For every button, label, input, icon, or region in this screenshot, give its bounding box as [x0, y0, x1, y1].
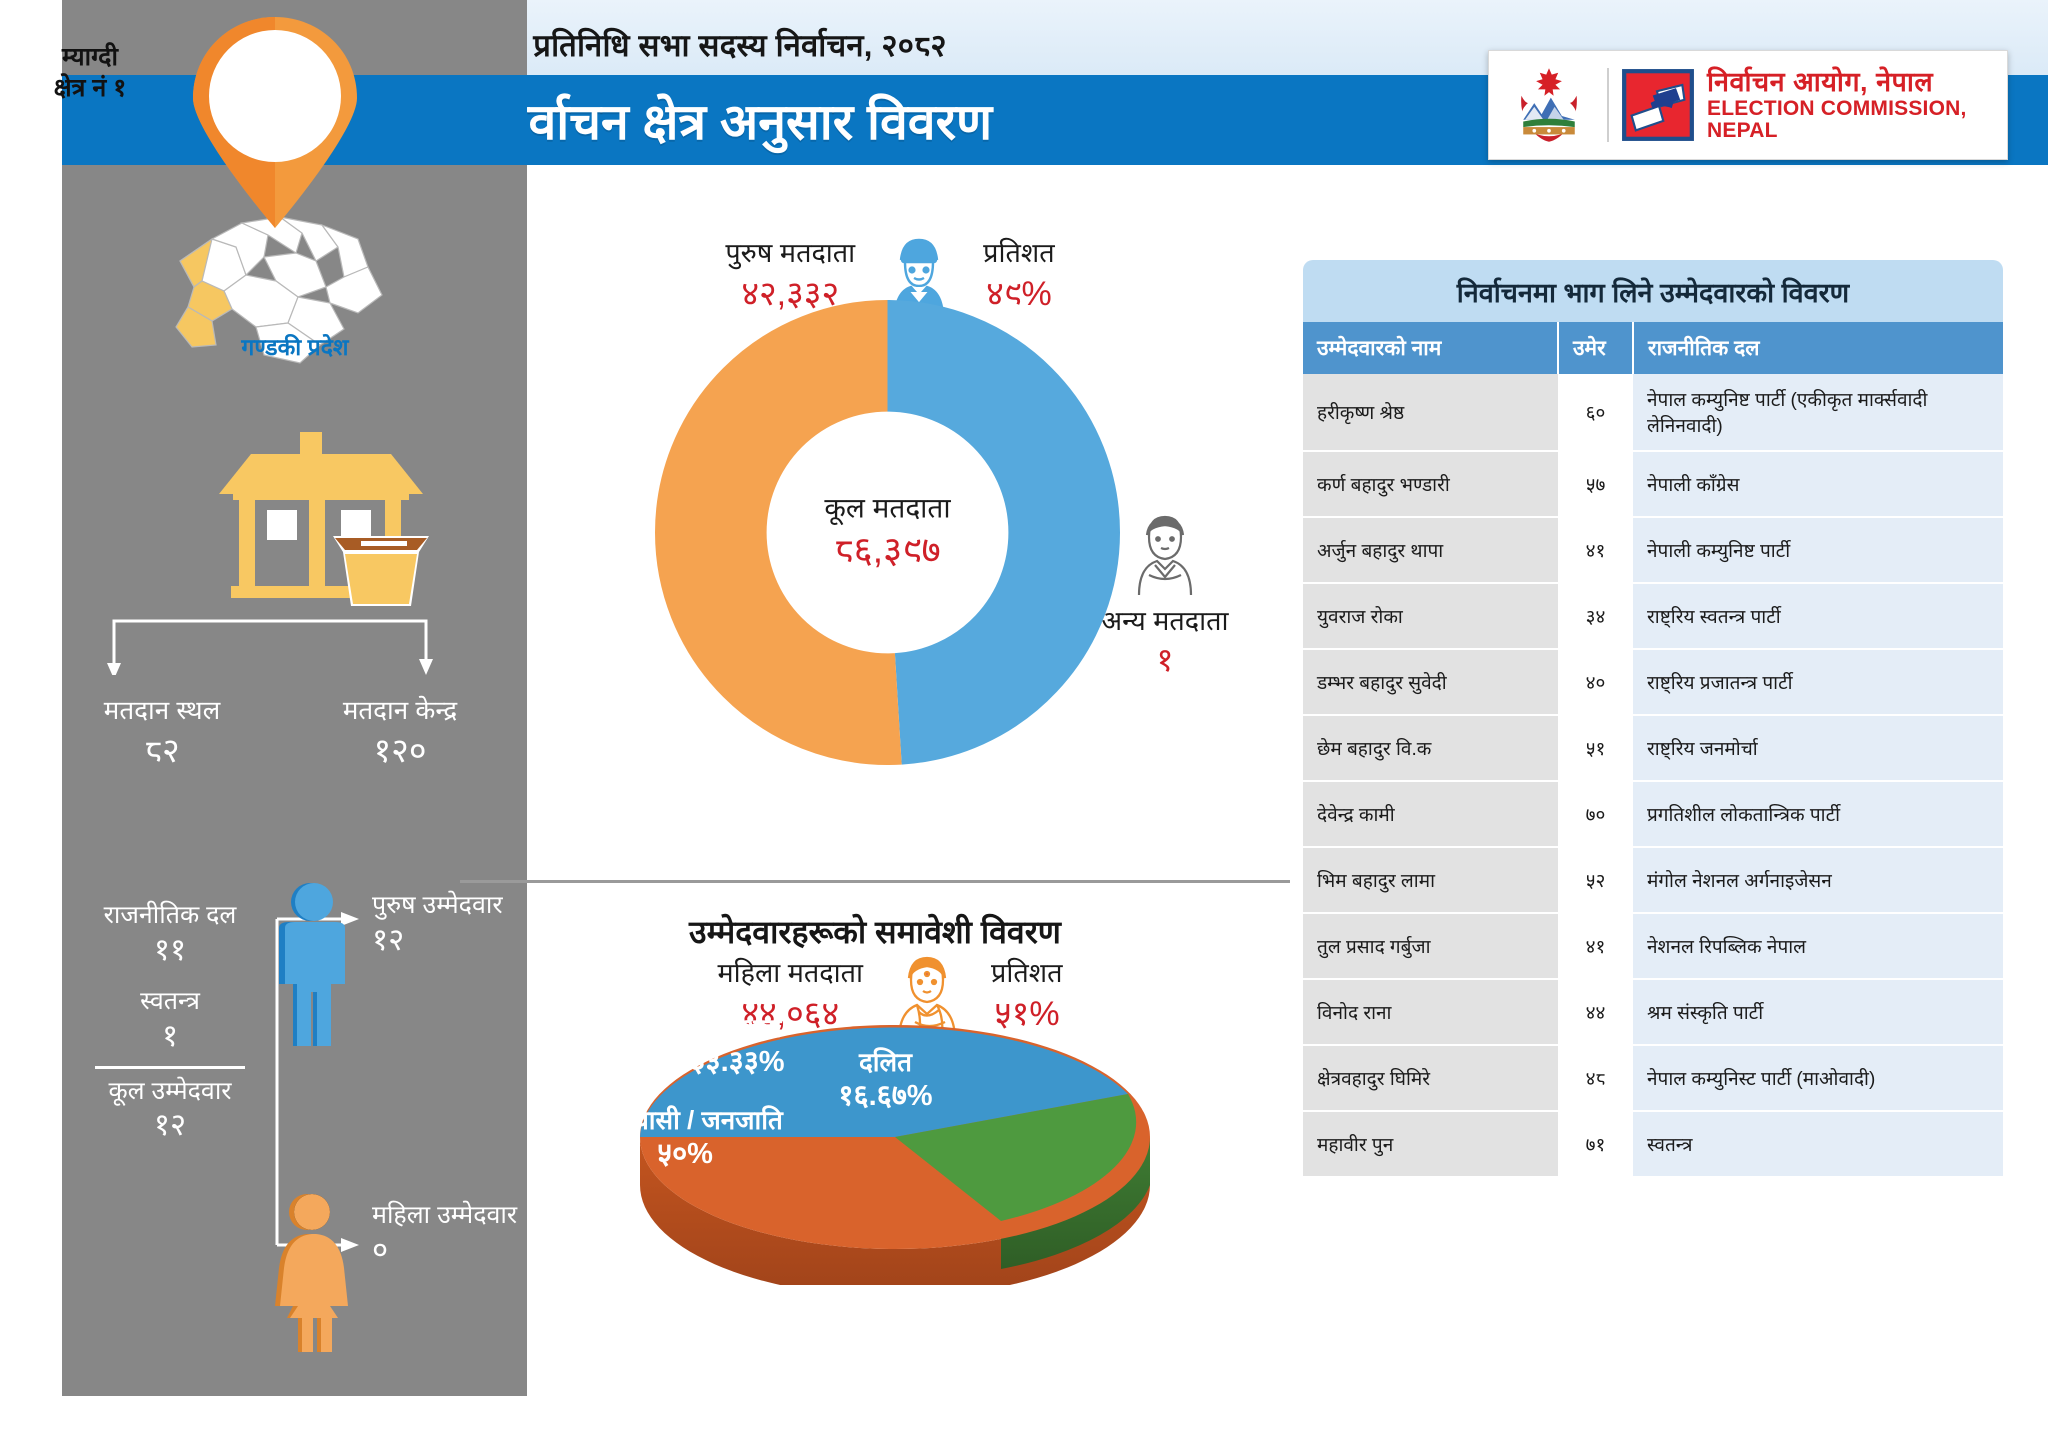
polling-center-value: १२० — [285, 730, 515, 773]
cell-candidate-age: ७१ — [1558, 1111, 1633, 1177]
table-body: हरीकृष्ण श्रेष्ठ६०नेपाल कम्युनिष्ट पार्ट… — [1303, 374, 2003, 1177]
male-candidate-icon — [265, 880, 360, 1050]
cell-candidate-age: ४१ — [1558, 517, 1633, 583]
table-header-row: उम्मेदवारको नाम उमेर राजनीतिक दल — [1303, 322, 2003, 374]
polling-center-block: मतदान केन्द्र १२० — [285, 695, 515, 773]
cell-candidate-party: स्वतन्त्र — [1633, 1111, 2003, 1177]
cell-candidate-party: नेपाल कम्युनिष्ट पार्टी (एकीकृत मार्क्सव… — [1633, 374, 2003, 451]
polling-place-label: मतदान स्थल — [62, 695, 262, 726]
table-row: विनोद राना४४श्रम संस्कृति पार्टी — [1303, 979, 2003, 1045]
cell-candidate-name: युवराज रोका — [1303, 583, 1558, 649]
table-row: महावीर पुन७१स्वतन्त्र — [1303, 1111, 2003, 1177]
total-voter-value: ८६,३९७ — [780, 528, 995, 574]
province-label: गण्डकी प्रदेश — [170, 330, 420, 362]
other-voter-block: अन्य मतदाता १ — [1070, 505, 1260, 681]
voter-gender-donut-chart: कूल मतदाता ८६,३९७ — [655, 300, 1120, 765]
other-voter-value: १ — [1070, 639, 1260, 680]
cell-candidate-party: नेपाली कम्युनिष्ट पार्टी — [1633, 517, 2003, 583]
other-voter-label: अन्य मतदाता — [1070, 605, 1260, 637]
logo-text-english: ELECTION COMMISSION, NEPAL — [1707, 98, 1993, 142]
cell-candidate-name: क्षेत्रवहादुर घिमिरे — [1303, 1045, 1558, 1111]
cell-candidate-age: ६० — [1558, 374, 1633, 451]
cell-candidate-party: नेशनल रिपब्लिक नेपाल — [1633, 913, 2003, 979]
cell-candidate-name: महावीर पुन — [1303, 1111, 1558, 1177]
column-header-name: उम्मेदवारको नाम — [1303, 322, 1558, 374]
table-row: छेम बहादुर वि.क५१राष्ट्रिय जनमोर्चा — [1303, 715, 2003, 781]
pin-label: म्याग्दी क्षेत्र नं १ — [0, 42, 180, 105]
pie-label-adivasi: आदिवासी / जनजाति ५०% — [545, 1105, 825, 1172]
nepal-emblem-icon — [1503, 59, 1595, 151]
cell-candidate-name: छेम बहादुर वि.क — [1303, 715, 1558, 781]
section-divider — [460, 880, 1290, 883]
male-voter-label: पुरुष मतदाता — [725, 237, 855, 269]
polling-place-block: मतदान स्थल ८२ — [62, 695, 262, 773]
candidate-table-title: निर्वाचनमा भाग लिने उम्मेदवारको विवरण — [1303, 260, 2003, 322]
cell-candidate-name: तुल प्रसाद गर्बुजा — [1303, 913, 1558, 979]
independent-value: १ — [70, 1017, 270, 1055]
political-party-label: राजनीतिक दल — [70, 900, 270, 931]
male-percent-label: प्रतिशत — [983, 237, 1055, 269]
cell-candidate-age: ४१ — [1558, 913, 1633, 979]
pin-constituency-number: क्षेत्र नं १ — [54, 74, 127, 102]
column-header-age: उमेर — [1558, 322, 1633, 374]
table-row: डम्भर बहादुर सुवेदी४०राष्ट्रिय प्रजातन्त… — [1303, 649, 2003, 715]
cell-candidate-age: ४० — [1558, 649, 1633, 715]
cell-candidate-name: डम्भर बहादुर सुवेदी — [1303, 649, 1558, 715]
cell-candidate-party: प्रगतिशील लोकतान्त्रिक पार्टी — [1633, 781, 2003, 847]
logo-text-nepali: निर्वाचन आयोग, नेपाल — [1707, 68, 1993, 96]
cell-candidate-age: ५७ — [1558, 451, 1633, 517]
pie-chart-title: उम्मेदवारहरूको समावेशी विवरण — [480, 910, 1270, 953]
pie-label-dalit-text: दलित — [793, 1047, 978, 1079]
polling-place-value: ८२ — [62, 730, 262, 773]
table-row: अर्जुन बहादुर थापा४१नेपाली कम्युनिष्ट पा… — [1303, 517, 2003, 583]
cell-candidate-age: ४४ — [1558, 979, 1633, 1045]
cell-candidate-party: राष्ट्रिय स्वतन्त्र पार्टी — [1633, 583, 2003, 649]
cell-candidate-party: राष्ट्रिय जनमोर्चा — [1633, 715, 2003, 781]
map-pin-marker — [185, 14, 365, 229]
election-commission-logo: निर्वाचन आयोग, नेपाल ELECTION COMMISSION… — [1488, 50, 2008, 160]
table-row: देवेन्द्र कामी७०प्रगतिशील लोकतान्त्रिक प… — [1303, 781, 2003, 847]
cell-candidate-age: ३४ — [1558, 583, 1633, 649]
cell-candidate-party: मंगोल नेशनल अर्गनाइजेसन — [1633, 847, 2003, 913]
table-row: कर्ण बहादुर भण्डारी५७नेपाली काँग्रेस — [1303, 451, 2003, 517]
table-row: भिम बहादुर लामा५२मंगोल नेशनल अर्गनाइजेसन — [1303, 847, 2003, 913]
pie-label-khas-text: खस आर्य — [630, 1013, 845, 1045]
center-panel: पुरुष मतदाता ४२,३३२ प्रतिशत ४९% — [540, 175, 1250, 1445]
cell-candidate-name: देवेन्द्र कामी — [1303, 781, 1558, 847]
female-candidate-icon — [265, 1190, 360, 1355]
total-voter-label: कूल मतदाता — [780, 491, 995, 525]
female-candidate-label: महिला उम्मेदवार — [372, 1200, 532, 1231]
table-row: हरीकृष्ण श्रेष्ठ६०नेपाल कम्युनिष्ट पार्ट… — [1303, 374, 2003, 451]
logo-divider — [1607, 68, 1609, 142]
cell-candidate-age: ४८ — [1558, 1045, 1633, 1111]
candidate-table-panel: निर्वाचनमा भाग लिने उम्मेदवारको विवरण उम… — [1303, 260, 2003, 1392]
cell-candidate-age: ७० — [1558, 781, 1633, 847]
pie-label-adivasi-text: आदिवासी / जनजाति — [545, 1105, 825, 1137]
table-row: क्षेत्रवहादुर घिमिरे४८नेपाल कम्युनिस्ट प… — [1303, 1045, 2003, 1111]
political-party-value: ११ — [70, 931, 270, 969]
cell-candidate-party: नेपाली काँग्रेस — [1633, 451, 2003, 517]
summary-divider — [95, 1066, 245, 1069]
candidate-summary-left: राजनीतिक दल ११ स्वतन्त्र १ कूल उम्मेदवार… — [70, 900, 270, 1144]
polling-station-house-icon — [205, 428, 435, 613]
female-candidate-block: महिला उम्मेदवार ० — [372, 1200, 532, 1270]
cell-candidate-party: नेपाल कम्युनिस्ट पार्टी (माओवादी) — [1633, 1045, 2003, 1111]
ballot-box-icon — [1621, 68, 1695, 142]
pin-district-name: म्याग्दी — [62, 43, 118, 71]
location-pin-icon — [185, 14, 365, 229]
cell-candidate-age: ५२ — [1558, 847, 1633, 913]
pie-label-adivasi-value: ५०% — [545, 1137, 825, 1172]
cell-candidate-name: कर्ण बहादुर भण्डारी — [1303, 451, 1558, 517]
cell-candidate-name: भिम बहादुर लामा — [1303, 847, 1558, 913]
polling-connector-lines — [100, 605, 440, 675]
logo-text: निर्वाचन आयोग, नेपाल ELECTION COMMISSION… — [1707, 68, 1993, 142]
table-row: तुल प्रसाद गर्बुजा४१नेशनल रिपब्लिक नेपाल — [1303, 913, 2003, 979]
left-white-margin — [0, 0, 62, 1448]
polling-center-label: मतदान केन्द्र — [285, 695, 515, 726]
cell-candidate-party: श्रम संस्कृति पार्टी — [1633, 979, 2003, 1045]
table-row: युवराज रोका३४राष्ट्रिय स्वतन्त्र पार्टी — [1303, 583, 2003, 649]
cell-candidate-name: विनोद राना — [1303, 979, 1558, 1045]
total-candidates-value: १२ — [70, 1106, 270, 1144]
cell-candidate-party: राष्ट्रिय प्रजातन्त्र पार्टी — [1633, 649, 2003, 715]
total-candidates-label: कूल उम्मेदवार — [70, 1076, 270, 1107]
cell-candidate-name: अर्जुन बहादुर थापा — [1303, 517, 1558, 583]
infographic-page: प्रतिनिधि सभा सदस्य निर्वाचन, २०८२ निर्व… — [0, 0, 2048, 1448]
cell-candidate-name: हरीकृष्ण श्रेष्ठ — [1303, 374, 1558, 451]
column-header-party: राजनीतिक दल — [1633, 322, 2003, 374]
cell-candidate-age: ५१ — [1558, 715, 1633, 781]
inclusion-pie-chart: खस आर्य ३३.३३% दलित १६.६७% आदिवासी / जनज… — [535, 985, 1255, 1285]
donut-center-label: कूल मतदाता ८६,३९७ — [780, 491, 995, 574]
other-voter-icon — [1119, 505, 1211, 597]
independent-label: स्वतन्त्र — [70, 986, 270, 1017]
candidate-table: उम्मेदवारको नाम उमेर राजनीतिक दल हरीकृष्… — [1303, 322, 2003, 1178]
female-candidate-value: ० — [372, 1231, 532, 1270]
